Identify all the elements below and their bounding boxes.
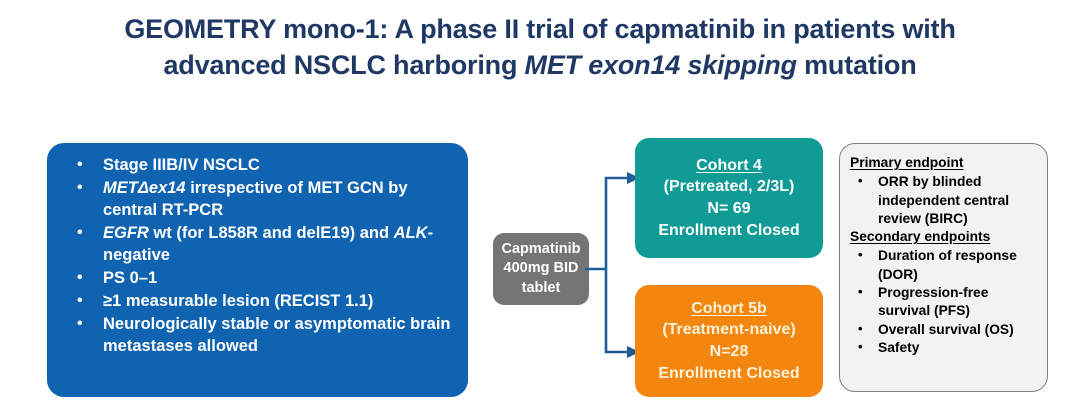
cohort-4-title: Cohort 4 xyxy=(696,155,762,177)
treatment-dose: 400mg BID xyxy=(504,259,579,278)
endpoint-text: ORR by blinded independent central revie… xyxy=(878,174,1009,226)
endpoint-text: Progression-free survival (PFS) xyxy=(878,285,988,318)
list-item: Overall survival (OS) xyxy=(850,321,1039,339)
list-item: Neurologically stable or asymptomatic br… xyxy=(61,314,454,358)
endpoint-text: Overall survival (OS) xyxy=(878,322,1014,337)
page-title-line-2-pre: advanced NSCLC harboring xyxy=(163,50,524,80)
treatment-drug-name: Capmatinib xyxy=(502,240,581,259)
primary-endpoint-heading: Primary endpoint xyxy=(850,154,1039,172)
connector-branch-down xyxy=(606,269,627,352)
criterion-text: PS 0–1 xyxy=(103,269,157,287)
cohort-5b-population: (Treatment-naive) xyxy=(662,319,795,341)
cohort-5b-title: Cohort 5b xyxy=(691,298,767,320)
cohort-5b-panel: Cohort 5b (Treatment-naive) N=28 Enrollm… xyxy=(635,285,823,397)
page-title-line-1-text: GEOMETRY mono-1: A phase II trial of cap… xyxy=(124,14,955,44)
list-item: Progression-free survival (PFS) xyxy=(850,284,1039,321)
endpoints-panel: Primary endpoint ORR by blinded independ… xyxy=(839,143,1048,392)
primary-endpoint-list: ORR by blinded independent central revie… xyxy=(850,173,1039,228)
criterion-gene-alk: ALK xyxy=(394,224,428,242)
criterion-gene-egfr: EGFR xyxy=(103,224,149,242)
criterion-text: Stage IIIB/IV NSCLC xyxy=(103,156,260,174)
list-item: ≥1 measurable lesion (RECIST 1.1) xyxy=(61,291,454,313)
secondary-endpoints-list: Duration of response (DOR) Progression-f… xyxy=(850,247,1039,357)
page-title-emphasis: MET exon14 skipping xyxy=(525,50,797,80)
secondary-endpoints-heading: Secondary endpoints xyxy=(850,228,1039,246)
cohort-4-status: Enrollment Closed xyxy=(658,220,799,242)
cohort-5b-status: Enrollment Closed xyxy=(658,363,799,385)
cohort-4-sample-size: N= 69 xyxy=(707,198,750,220)
list-item: Duration of response (DOR) xyxy=(850,247,1039,284)
endpoint-text: Safety xyxy=(878,340,919,355)
criterion-gene-met: METΔex14 xyxy=(103,179,186,197)
page-title: GEOMETRY mono-1: A phase II trial of cap… xyxy=(40,12,1040,83)
eligibility-criteria-panel: Stage IIIB/IV NSCLC METΔex14 irrespectiv… xyxy=(47,143,468,397)
eligibility-criteria-list: Stage IIIB/IV NSCLC METΔex14 irrespectiv… xyxy=(61,155,454,357)
cohort-4-population: (Pretreated, 2/3L) xyxy=(664,176,795,198)
page-title-line-2-post: mutation xyxy=(797,50,917,80)
list-item: Stage IIIB/IV NSCLC xyxy=(61,155,454,177)
list-item: EGFR wt (for L858R and delE19) and ALK-n… xyxy=(61,223,454,267)
cohort-5b-sample-size: N=28 xyxy=(710,341,749,363)
list-item: PS 0–1 xyxy=(61,268,454,290)
criterion-text: wt (for L858R and delE19) and xyxy=(149,224,394,242)
list-item: ORR by blinded independent central revie… xyxy=(850,173,1039,228)
page-title-line-1: GEOMETRY mono-1: A phase II trial of cap… xyxy=(40,12,1040,48)
criterion-text: ≥1 measurable lesion (RECIST 1.1) xyxy=(103,292,373,310)
treatment-formulation: tablet xyxy=(522,279,561,298)
cohort-4-panel: Cohort 4 (Pretreated, 2/3L) N= 69 Enroll… xyxy=(635,138,823,258)
criterion-text: Neurologically stable or asymptomatic br… xyxy=(103,315,451,355)
connector-branch-up xyxy=(606,178,627,269)
list-item: Safety xyxy=(850,339,1039,357)
page-title-line-2: advanced NSCLC harboring MET exon14 skip… xyxy=(40,48,1040,84)
list-item: METΔex14 irrespective of MET GCN by cent… xyxy=(61,178,454,222)
endpoint-text: Duration of response (DOR) xyxy=(878,248,1017,281)
treatment-panel: Capmatinib 400mg BID tablet xyxy=(493,233,589,305)
